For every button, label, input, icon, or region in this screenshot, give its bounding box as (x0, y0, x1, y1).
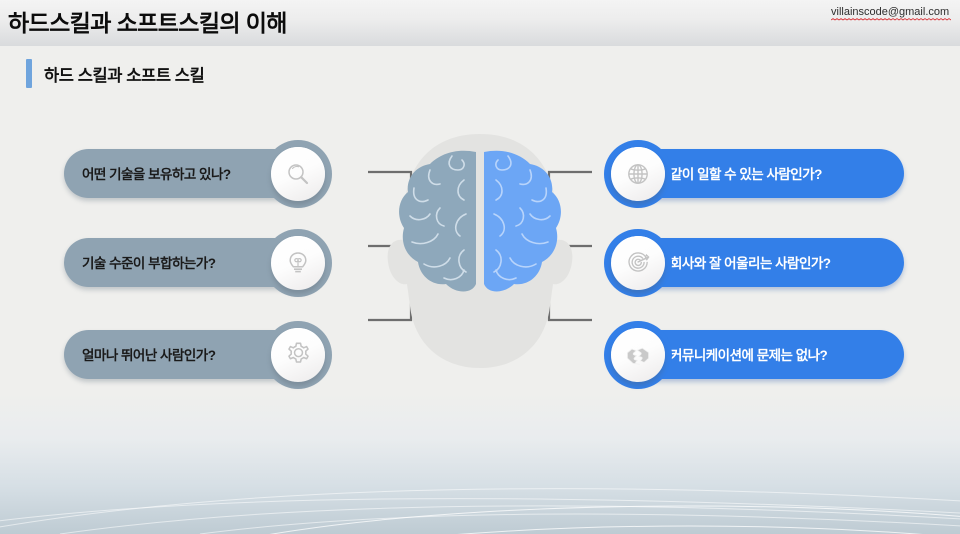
soft-skill-label-1: 같이 일할 수 있는 사람인가? (670, 163, 822, 183)
soft-skill-badge-3 (604, 321, 672, 389)
right-hemisphere (484, 151, 561, 292)
hard-skill-card-2[interactable]: 기술 수준이 부합하는가? (64, 228, 328, 296)
soft-skill-badge-1 (604, 140, 672, 208)
bottom-decorative-band (0, 394, 960, 534)
author-email: villainscode@gmail.com (831, 6, 951, 21)
lightbulb-icon (271, 236, 325, 290)
hard-skill-card-3[interactable]: 얼마나 뛰어난 사람인가? (64, 320, 328, 388)
hard-skill-badge-3 (264, 321, 332, 389)
hard-skill-badge-2 (264, 229, 332, 297)
soft-skill-label-3: 커뮤니케이션에 문제는 없나? (670, 344, 827, 364)
section-subtitle: 하드 스킬과 소프트 스킬 (26, 59, 204, 88)
hard-skill-badge-1 (264, 140, 332, 208)
author-email-text: villainscode@gmail.com (831, 6, 949, 18)
subtitle-accent-bar (26, 59, 32, 88)
hard-skill-label-2: 기술 수준이 부합하는가? (82, 252, 215, 272)
soft-skill-pill-3[interactable]: 커뮤니케이션에 문제는 없나? (608, 330, 904, 379)
soft-skill-pill-1[interactable]: 같이 일할 수 있는 사람인가? (608, 149, 904, 198)
subtitle-label: 하드 스킬과 소프트 스킬 (44, 62, 204, 86)
page-title: 하드스킬과 소프트스킬의 이해 (8, 4, 287, 38)
soft-skill-pill-2[interactable]: 회사와 잘 어울리는 사람인가? (608, 238, 904, 287)
left-hemisphere (399, 151, 476, 292)
gear-icon (271, 328, 325, 382)
perspective-lines-graphic (0, 394, 960, 534)
soft-skill-card-1[interactable]: 같이 일할 수 있는 사람인가? (608, 139, 904, 207)
hard-skill-label-3: 얼마나 뛰어난 사람인가? (82, 344, 215, 364)
hard-skill-pill-3[interactable]: 얼마나 뛰어난 사람인가? (64, 330, 328, 379)
hard-skill-card-1[interactable]: 어떤 기술을 보유하고 있나? (64, 139, 328, 207)
search-icon (271, 147, 325, 201)
globe-icon (611, 147, 665, 201)
target-icon (611, 236, 665, 290)
hard-skill-pill-2[interactable]: 기술 수준이 부합하는가? (64, 238, 328, 287)
slide-header: 하드스킬과 소프트스킬의 이해 villainscode@gmail.com (0, 0, 960, 46)
spellcheck-squiggle-icon (831, 18, 951, 21)
head-brain-illustration (360, 120, 600, 390)
soft-skill-card-3[interactable]: 커뮤니케이션에 문제는 없나? (608, 320, 904, 388)
soft-skill-label-2: 회사와 잘 어울리는 사람인가? (670, 252, 831, 272)
brain-graphic (360, 120, 600, 390)
soft-skill-badge-2 (604, 229, 672, 297)
head-silhouette (388, 134, 573, 368)
slide-canvas: 하드스킬과 소프트스킬의 이해 villainscode@gmail.com 하… (0, 0, 960, 534)
soft-skill-card-2[interactable]: 회사와 잘 어울리는 사람인가? (608, 228, 904, 296)
hard-skill-pill-1[interactable]: 어떤 기술을 보유하고 있나? (64, 149, 328, 198)
handshake-icon (611, 328, 665, 382)
hard-skill-label-1: 어떤 기술을 보유하고 있나? (82, 163, 231, 183)
